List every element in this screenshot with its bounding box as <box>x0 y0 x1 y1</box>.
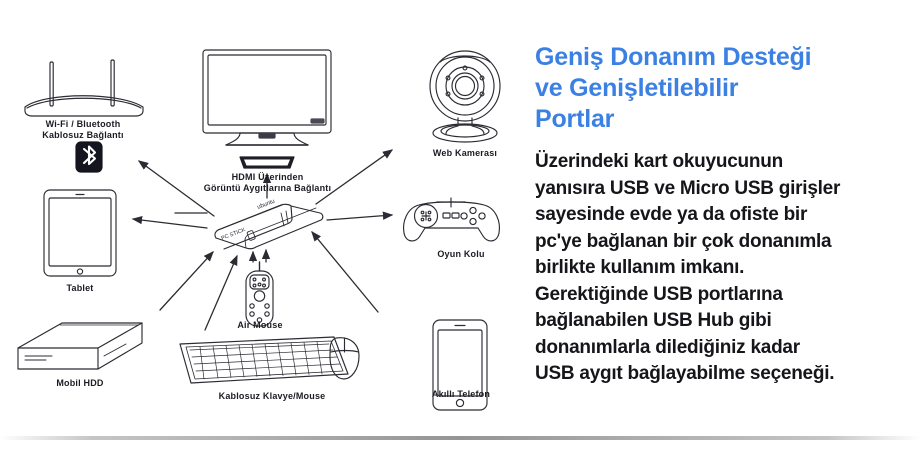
label-router: Wi-Fi / Bluetooth Kablosuz Bağlantı <box>18 119 148 141</box>
keyboard-mouse-icon <box>180 337 348 383</box>
label-hdd: Mobil HDD <box>32 378 128 389</box>
label-airmouse: Air Mouse <box>212 320 308 331</box>
label-keyboard: Kablosuz Klavye/Mouse <box>196 391 348 402</box>
label-gamepad: Oyun Kolu <box>409 249 513 260</box>
bottom-spacer <box>0 440 920 450</box>
mouse-icon <box>330 338 359 379</box>
hdmi-connector-icon <box>240 157 294 168</box>
label-webcam: Web Kamerası <box>413 148 517 159</box>
tablet-icon <box>44 190 116 276</box>
hardware-connection-diagram: ubuntu PC STICK <box>0 0 530 430</box>
page-root: ubuntu PC STICK <box>0 0 920 450</box>
page-title: Geniş Donanım Desteği ve Genişletilebili… <box>535 42 915 135</box>
television-icon <box>203 50 331 145</box>
label-tv: HDMI Üzerinden Görüntü Aygıtlarına Bağla… <box>196 172 339 194</box>
label-phone: Akıllı Telefon <box>414 389 508 400</box>
air-mouse-icon <box>246 262 273 326</box>
bluetooth-icon <box>76 142 102 172</box>
text-column: Geniş Donanım Desteği ve Genişletilebili… <box>535 42 915 388</box>
wifi-router-icon <box>25 60 143 116</box>
mini-pc-usb-stick: ubuntu PC STICK <box>215 199 323 249</box>
description-paragraph: Üzerindeki kart okuyucunun yanısıra USB … <box>535 149 915 388</box>
gamepad-icon <box>404 198 500 241</box>
webcam-icon <box>430 51 500 142</box>
external-hdd-icon <box>18 323 142 369</box>
svg-text:PC STICK: PC STICK <box>221 227 247 242</box>
label-tablet: Tablet <box>36 283 124 294</box>
